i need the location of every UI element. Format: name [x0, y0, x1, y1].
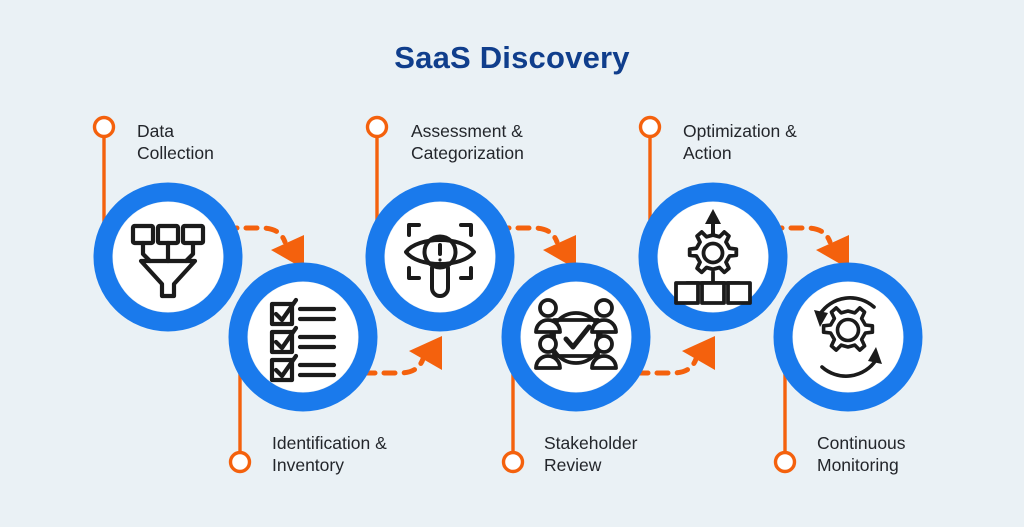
callout-ring-marker — [368, 118, 387, 137]
callout-ring-marker — [504, 453, 523, 472]
node-assessment-categorization[interactable] — [375, 192, 505, 322]
callout-ring-marker — [776, 453, 795, 472]
step-label-continuous-monitoring: Continuous Monitoring — [817, 432, 906, 476]
step-label-optimization-action: Optimization & Action — [683, 120, 797, 164]
flow-arrow-head — [409, 336, 442, 370]
flow-arrow-head — [682, 336, 715, 370]
callout-ring-marker — [231, 453, 250, 472]
node-identification-inventory[interactable] — [238, 272, 368, 402]
step-label-stakeholder-review: Stakeholder Review — [544, 432, 637, 476]
step-label-data-collection: Data Collection — [137, 120, 214, 164]
callout-ring-marker — [641, 118, 660, 137]
step-label-identification-inventory: Identification & Inventory — [272, 432, 387, 476]
node-optimization-action[interactable] — [648, 192, 778, 322]
callout-ring-marker — [95, 118, 114, 137]
step-label-assessment-categorization: Assessment & Categorization — [411, 120, 524, 164]
node-data-collection[interactable] — [103, 192, 233, 322]
node-stakeholder-review[interactable] — [511, 272, 641, 402]
diagram-canvas: SaaS Discovery — [0, 0, 1024, 527]
node-fill — [521, 282, 631, 392]
node-continuous-monitoring[interactable] — [783, 272, 913, 402]
